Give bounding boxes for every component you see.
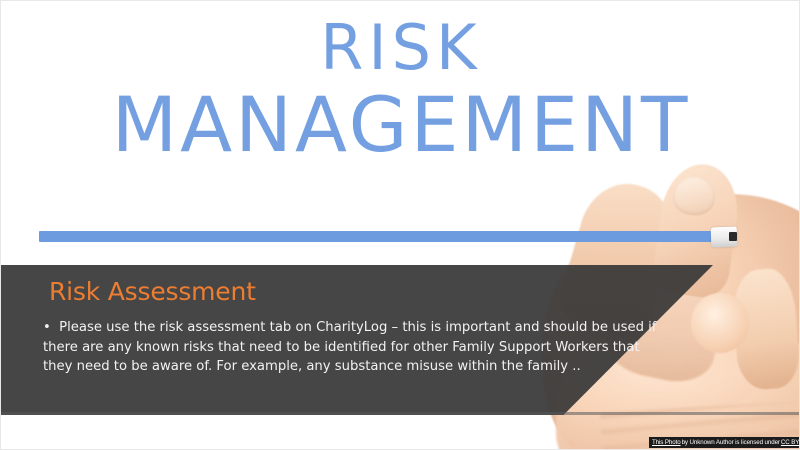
photo-credit: This Photo by Unknown Author is licensed… xyxy=(649,437,800,448)
credit-photo-link[interactable]: This Photo xyxy=(652,439,681,446)
marker-pen-tip xyxy=(729,232,737,241)
slide: RISK MANAGEMENT Risk Assessment • Please… xyxy=(0,0,800,450)
hand-fingertip-shape xyxy=(691,293,749,353)
credit-license-link[interactable]: CC BY-SA xyxy=(781,439,800,446)
panel-body-paragraph: Please use the risk assessment tab on Ch… xyxy=(43,320,656,374)
credit-middle-text: by Unknown Author is licensed under xyxy=(681,439,781,446)
panel-body-text: • Please use the risk assessment tab on … xyxy=(43,318,663,377)
content-panel-edge-line xyxy=(1,412,800,415)
bullet-marker: • xyxy=(43,320,51,335)
blue-underline-stroke xyxy=(39,231,736,242)
panel-heading: Risk Assessment xyxy=(49,277,256,306)
